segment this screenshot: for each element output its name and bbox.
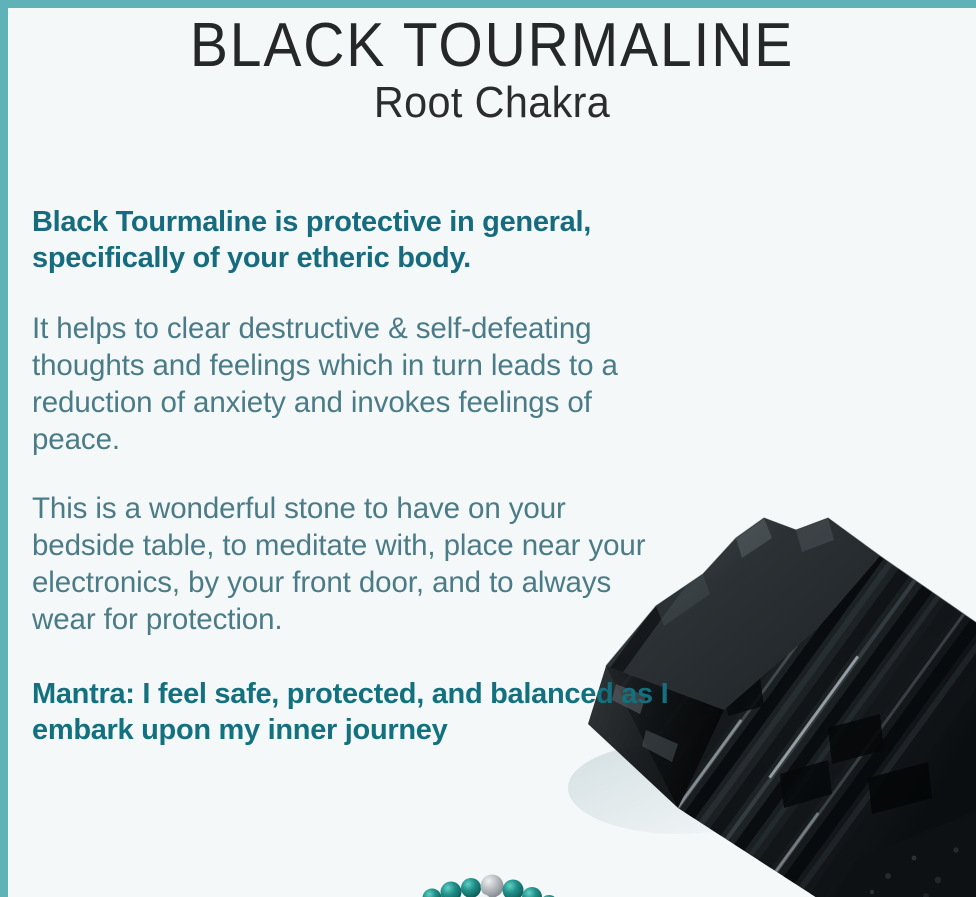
mantra-paragraph: Mantra: I feel safe, protected, and bala… bbox=[32, 676, 672, 748]
crystal-info-card: BLACK TOURMALINE Root Chakra Black Tourm… bbox=[0, 0, 976, 897]
lead-paragraph: Black Tourmaline is protective in genera… bbox=[32, 204, 672, 276]
paragraph-2: It helps to clear destructive & self-def… bbox=[32, 310, 672, 458]
spacer bbox=[32, 638, 672, 676]
spacer bbox=[32, 458, 672, 490]
content-body: Black Tourmaline is protective in genera… bbox=[32, 204, 672, 748]
bracelet-icon bbox=[413, 866, 583, 897]
paragraph-3: This is a wonderful stone to have on you… bbox=[32, 490, 672, 638]
header: BLACK TOURMALINE Root Chakra bbox=[8, 14, 976, 128]
page-subtitle: Root Chakra bbox=[37, 79, 947, 127]
spacer bbox=[32, 276, 672, 310]
beaded-bracelet-image bbox=[413, 866, 583, 897]
page-title: BLACK TOURMALINE bbox=[47, 14, 938, 77]
